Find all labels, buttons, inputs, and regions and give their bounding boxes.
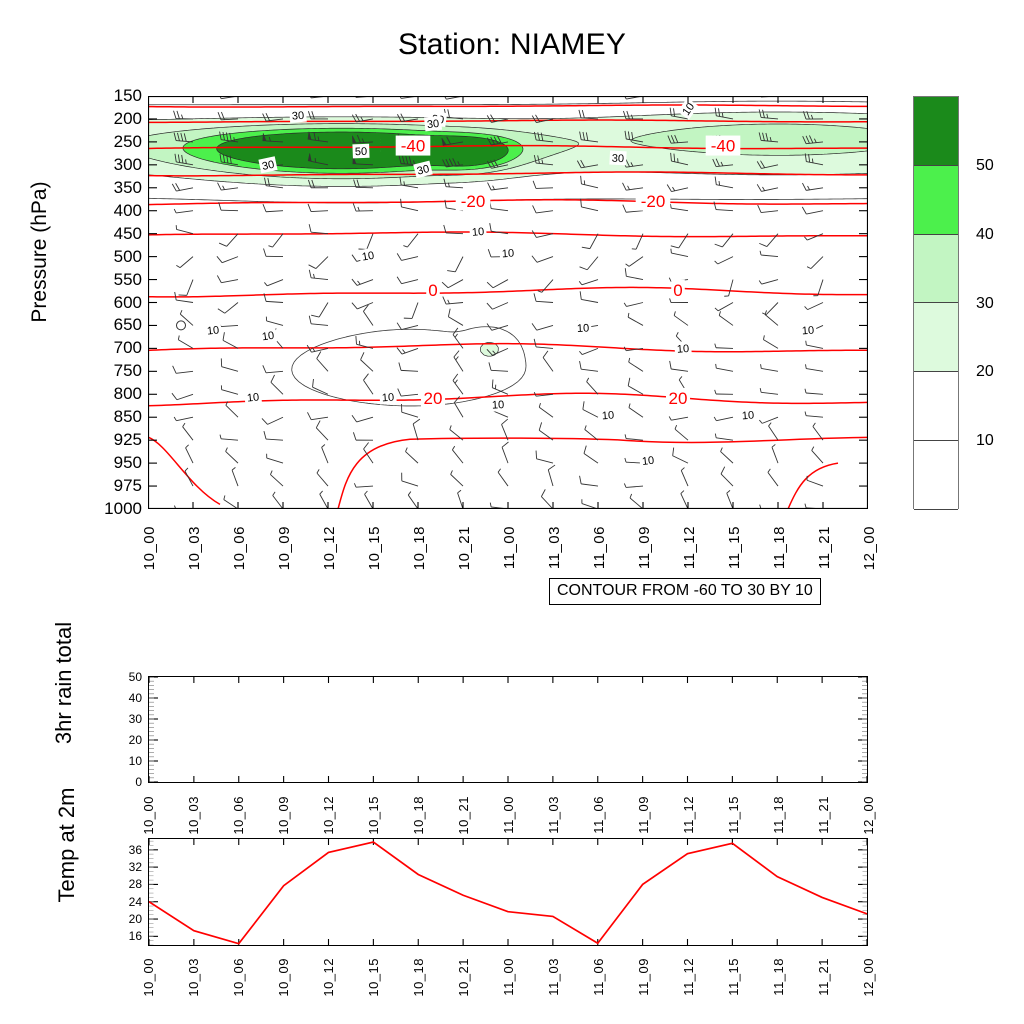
pressure-tick-650: 650	[114, 315, 142, 335]
svg-text:-40: -40	[401, 137, 426, 156]
rain-x-tick-11_12: 11_12	[681, 796, 696, 834]
temp-plot-svg	[149, 839, 867, 945]
pressure-tick-700: 700	[114, 338, 142, 358]
main-x-tick-11_03: 11_03	[546, 526, 563, 569]
temp-x-tick-10_18: 10_18	[411, 958, 426, 997]
colorbar-tick-20: 20	[976, 363, 994, 381]
rain-x-tick-11_03: 11_03	[546, 796, 561, 834]
pressure-tick-850: 850	[114, 407, 142, 427]
pressure-tick-300: 300	[114, 155, 142, 175]
main-x-tick-10_21: 10_21	[456, 526, 473, 570]
pressure-tick-400: 400	[114, 201, 142, 221]
temp-x-tick-11_09: 11_09	[636, 958, 651, 996]
page-title: Station: NIAMEY	[0, 28, 1024, 62]
svg-text:10: 10	[382, 392, 395, 405]
temp-x-tick-10_21: 10_21	[456, 958, 471, 997]
temp-x-tick-11_06: 11_06	[591, 958, 606, 996]
svg-text:0: 0	[428, 281, 437, 300]
pressure-tick-500: 500	[114, 247, 142, 267]
svg-text:30: 30	[426, 118, 439, 131]
main-x-tick-10_18: 10_18	[411, 526, 428, 570]
colorbar-band-2	[914, 235, 958, 304]
main-x-tick-11_00: 11_00	[501, 526, 518, 569]
pressure-tick-450: 450	[114, 224, 142, 244]
colorbar: 5040302010	[913, 96, 959, 509]
svg-text:50: 50	[355, 146, 368, 158]
rain-y-tick-20: 20	[129, 733, 142, 747]
temp-y-tick-36: 36	[129, 843, 142, 857]
temp-x-tick-10_06: 10_06	[231, 958, 246, 997]
main-x-tick-11_18: 11_18	[771, 526, 788, 569]
pressure-tick-925: 925	[114, 430, 142, 450]
pressure-tick-150: 150	[114, 86, 142, 106]
rain-x-tick-10_21: 10_21	[456, 796, 471, 835]
main-x-tick-10_15: 10_15	[366, 526, 383, 570]
temp-y-tick-20: 20	[129, 912, 142, 926]
main-x-tick-11_09: 11_09	[636, 526, 653, 569]
temp-x-tick-11_18: 11_18	[771, 958, 786, 996]
main-y-axis-title: Pressure (hPa)	[28, 102, 52, 402]
svg-text:10: 10	[261, 330, 275, 344]
main-x-tick-11_21: 11_21	[816, 526, 833, 569]
contour-note-box: CONTOUR FROM -60 TO 30 BY 10	[549, 578, 821, 605]
rain-x-tick-11_18: 11_18	[771, 796, 786, 834]
rain-x-tick-10_18: 10_18	[411, 796, 426, 835]
main-x-tick-10_09: 10_09	[276, 526, 293, 570]
rain-y-tick-50: 50	[129, 670, 142, 684]
main-x-tick-10_03: 10_03	[186, 526, 203, 570]
rain-x-tick-12_00: 12_00	[861, 796, 876, 835]
temp-y-tick-24: 24	[129, 895, 142, 909]
svg-text:10: 10	[802, 325, 815, 338]
rain-x-tick-10_06: 10_06	[231, 796, 246, 835]
svg-text:10: 10	[677, 343, 690, 356]
main-y-axis-labels: 1502002503003504004505005506006507007508…	[60, 96, 142, 509]
rain-y-axis-labels: 01020304050	[88, 676, 142, 783]
rain-x-tick-10_00: 10_00	[141, 796, 156, 835]
pressure-tick-550: 550	[114, 270, 142, 290]
temp-x-tick-10_00: 10_00	[141, 958, 156, 997]
rain-plot	[148, 676, 868, 783]
main-x-tick-10_12: 10_12	[321, 526, 338, 570]
svg-text:10: 10	[361, 250, 375, 264]
main-x-tick-10_00: 10_00	[141, 526, 158, 570]
temp-x-tick-11_21: 11_21	[816, 958, 831, 996]
cross-section-plot: 3030303030501010101010101010101010101010…	[148, 96, 868, 509]
temp-series-line	[149, 842, 867, 944]
svg-text:10: 10	[577, 322, 590, 335]
temp-x-tick-11_03: 11_03	[546, 958, 561, 996]
svg-text:10: 10	[492, 399, 505, 412]
svg-text:-20: -20	[641, 192, 666, 211]
colorbar-tick-10: 10	[976, 432, 994, 450]
temp-x-tick-11_00: 11_00	[501, 958, 516, 996]
rain-x-tick-11_15: 11_15	[726, 796, 741, 834]
svg-text:30: 30	[292, 110, 305, 123]
temp-x-tick-10_09: 10_09	[276, 958, 291, 997]
pressure-tick-200: 200	[114, 109, 142, 129]
svg-text:20: 20	[424, 389, 443, 408]
temp-y-tick-28: 28	[129, 877, 142, 891]
rain-y-tick-10: 10	[129, 754, 142, 768]
pressure-tick-250: 250	[114, 132, 142, 152]
rain-plot-svg	[149, 677, 867, 782]
rain-x-tick-11_09: 11_09	[636, 796, 651, 834]
svg-text:10: 10	[641, 455, 654, 468]
temp-x-tick-10_12: 10_12	[321, 958, 336, 997]
temp-x-axis-labels: 10_0010_0310_0610_0910_1210_1510_1810_21…	[148, 952, 868, 1010]
svg-text:30: 30	[261, 159, 275, 173]
colorbar-tick-50: 50	[976, 157, 994, 175]
colorbar-band-5	[914, 441, 958, 510]
temp-y-tick-32: 32	[129, 860, 142, 874]
svg-text:10: 10	[246, 391, 259, 404]
main-x-axis-labels: 10_0010_0310_0610_0910_1210_1510_1810_21…	[148, 520, 868, 582]
rain-x-tick-10_09: 10_09	[276, 796, 291, 835]
svg-text:-20: -20	[461, 192, 486, 211]
colorbar-band-1	[914, 166, 958, 235]
pressure-tick-950: 950	[114, 453, 142, 473]
svg-text:30: 30	[612, 153, 625, 166]
colorbar-tick-30: 30	[976, 295, 994, 313]
pressure-tick-600: 600	[114, 293, 142, 313]
main-x-tick-11_06: 11_06	[591, 526, 608, 569]
colorbar-tick-40: 40	[976, 226, 994, 244]
rain-x-tick-11_06: 11_06	[591, 796, 606, 834]
rain-x-tick-11_21: 11_21	[816, 796, 831, 834]
rain-x-tick-10_15: 10_15	[366, 796, 381, 835]
pressure-tick-1000: 1000	[104, 499, 142, 519]
temp-x-tick-10_15: 10_15	[366, 958, 381, 997]
rain-y-tick-0: 0	[135, 775, 142, 789]
svg-text:10: 10	[471, 226, 484, 239]
svg-text:10: 10	[502, 247, 515, 260]
svg-text:10: 10	[742, 409, 755, 422]
main-x-tick-11_15: 11_15	[726, 526, 743, 569]
svg-text:-40: -40	[711, 137, 736, 156]
cross-section-svg: 3030303030501010101010101010101010101010…	[148, 96, 868, 509]
svg-text:0: 0	[673, 281, 682, 300]
colorbar-band-0	[914, 97, 958, 166]
pressure-tick-750: 750	[114, 361, 142, 381]
pressure-tick-800: 800	[114, 384, 142, 404]
rain-x-tick-10_03: 10_03	[186, 796, 201, 835]
rain-y-tick-40: 40	[129, 691, 142, 705]
colorbar-band-3	[914, 303, 958, 372]
svg-text:10: 10	[206, 324, 219, 337]
pressure-tick-350: 350	[114, 178, 142, 198]
temp-plot	[148, 838, 868, 946]
chart-page: Station: NIAMEY 150200250300350400450500…	[0, 0, 1024, 1024]
svg-text:10: 10	[602, 409, 615, 422]
temp-x-tick-12_00: 12_00	[861, 958, 876, 997]
rain-y-tick-30: 30	[129, 712, 142, 726]
main-x-tick-11_12: 11_12	[681, 526, 698, 569]
svg-text:20: 20	[669, 389, 688, 408]
main-x-tick-12_00: 12_00	[861, 526, 878, 570]
temp-panel-title: Temp at 2m	[54, 720, 80, 970]
temp-y-axis-labels: 162024283236	[88, 838, 142, 946]
temp-y-tick-16: 16	[129, 929, 142, 943]
temp-x-tick-10_03: 10_03	[186, 958, 201, 997]
pressure-tick-975: 975	[114, 476, 142, 496]
main-x-tick-10_06: 10_06	[231, 526, 248, 570]
rain-x-tick-11_00: 11_00	[501, 796, 516, 834]
temp-x-tick-11_15: 11_15	[726, 958, 741, 996]
colorbar-band-4	[914, 372, 958, 441]
temp-x-tick-11_12: 11_12	[681, 958, 696, 996]
rain-x-tick-10_12: 10_12	[321, 796, 336, 835]
